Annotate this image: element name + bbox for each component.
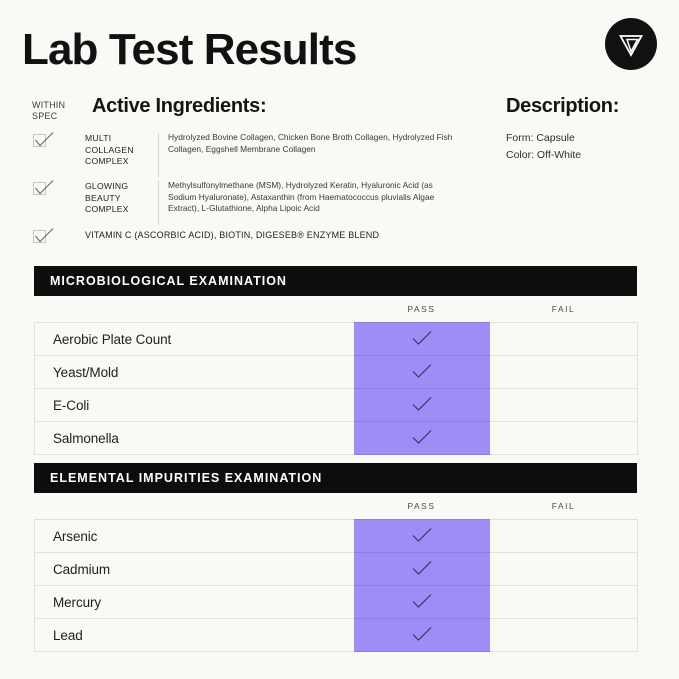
description-heading: Description: — [506, 95, 619, 118]
table-row: Aerobic Plate Count — [35, 323, 638, 356]
checkmark-icon — [33, 226, 55, 246]
examination-title: ELEMENTAL IMPURITIES EXAMINATION — [34, 463, 637, 493]
checkmark-icon — [33, 130, 55, 150]
column-header-name — [35, 296, 354, 323]
pass-cell[interactable] — [354, 586, 490, 619]
ingredient-description: Hydrolyzed Bovine Collagen, Chicken Bone… — [168, 132, 458, 155]
ingredient-complex-name: VITAMIN C (ASCORBIC ACID), BIOTIN, DIGES… — [85, 229, 485, 241]
table-header-row: PASS FAIL — [35, 493, 638, 520]
ingredient-row: GLOWING BEAUTY COMPLEX Methylsulfonylmet… — [0, 182, 679, 230]
ingredient-description: Methylsulfonylmethane (MSM), Hydrolyzed … — [168, 180, 458, 215]
test-name: Salmonella — [35, 422, 354, 455]
pass-checkmark-icon — [411, 363, 433, 379]
fail-cell[interactable] — [490, 520, 638, 553]
table-row: Salmonella — [35, 422, 638, 455]
pass-cell[interactable] — [354, 520, 490, 553]
column-header-pass: PASS — [354, 493, 490, 520]
pass-checkmark-icon — [411, 626, 433, 642]
examination-table: PASS FAIL Arsenic — [34, 493, 638, 652]
within-spec-line-2: SPEC — [32, 111, 76, 122]
page-title: Lab Test Results — [22, 27, 356, 73]
pass-cell[interactable] — [354, 619, 490, 652]
fail-cell[interactable] — [490, 323, 638, 356]
test-name: Cadmium — [35, 553, 354, 586]
ingredient-divider — [158, 133, 159, 177]
pass-checkmark-icon — [411, 560, 433, 576]
ingredient-divider — [158, 181, 159, 225]
document-header: Lab Test Results — [0, 0, 679, 92]
fail-cell[interactable] — [490, 389, 638, 422]
table-row: Lead — [35, 619, 638, 652]
examination-block-microbiological: MICROBIOLOGICAL EXAMINATION PASS FAIL Ae… — [34, 266, 637, 455]
fail-cell[interactable] — [490, 356, 638, 389]
pass-cell[interactable] — [354, 553, 490, 586]
column-header-name — [35, 493, 354, 520]
ingredients-description-band: WITHIN SPEC Active Ingredients: Descript… — [0, 92, 679, 257]
fail-cell[interactable] — [490, 619, 638, 652]
column-header-fail: FAIL — [490, 296, 638, 323]
pass-checkmark-icon — [411, 429, 433, 445]
test-name: Lead — [35, 619, 354, 652]
within-spec-checkbox[interactable] — [33, 182, 48, 197]
ingredient-complex-name: GLOWING BEAUTY COMPLEX — [85, 181, 151, 216]
ingredient-complex-name: MULTI COLLAGEN COMPLEX — [85, 133, 151, 168]
pass-checkmark-icon — [411, 593, 433, 609]
test-name: Aerobic Plate Count — [35, 323, 354, 356]
examination-table: PASS FAIL Aerobic Plate Count — [34, 296, 638, 455]
lab-test-results-page: Lab Test Results WITHIN SPEC Active Ingr… — [0, 0, 679, 679]
ingredient-row: MULTI COLLAGEN COMPLEX Hydrolyzed Bovine… — [0, 134, 679, 182]
pass-cell[interactable] — [354, 323, 490, 356]
pass-cell[interactable] — [354, 356, 490, 389]
pass-cell[interactable] — [354, 422, 490, 455]
brand-logo — [605, 18, 657, 70]
column-header-pass: PASS — [354, 296, 490, 323]
test-name: Arsenic — [35, 520, 354, 553]
test-name: E-Coli — [35, 389, 354, 422]
fail-cell[interactable] — [490, 553, 638, 586]
within-spec-line-1: WITHIN — [32, 100, 76, 111]
table-row: Cadmium — [35, 553, 638, 586]
table-row: Mercury — [35, 586, 638, 619]
table-row: E-Coli — [35, 389, 638, 422]
checkmark-icon — [33, 178, 55, 198]
triangle-logo-icon — [616, 29, 646, 59]
table-row: Arsenic — [35, 520, 638, 553]
table-header-row: PASS FAIL — [35, 296, 638, 323]
pass-cell[interactable] — [354, 389, 490, 422]
within-spec-checkbox[interactable] — [33, 134, 48, 149]
pass-checkmark-icon — [411, 527, 433, 543]
active-ingredients-heading: Active Ingredients: — [92, 95, 266, 118]
examination-results: MICROBIOLOGICAL EXAMINATION PASS FAIL Ae… — [34, 266, 637, 652]
within-spec-label: WITHIN SPEC — [32, 100, 76, 122]
examination-title: MICROBIOLOGICAL EXAMINATION — [34, 266, 637, 296]
active-ingredients-list: MULTI COLLAGEN COMPLEX Hydrolyzed Bovine… — [0, 134, 679, 254]
examination-block-elemental-impurities: ELEMENTAL IMPURITIES EXAMINATION PASS FA… — [34, 463, 637, 652]
fail-cell[interactable] — [490, 422, 638, 455]
fail-cell[interactable] — [490, 586, 638, 619]
within-spec-checkbox[interactable] — [33, 230, 48, 245]
ingredient-row: VITAMIN C (ASCORBIC ACID), BIOTIN, DIGES… — [0, 230, 679, 254]
pass-checkmark-icon — [411, 396, 433, 412]
pass-checkmark-icon — [411, 330, 433, 346]
test-name: Mercury — [35, 586, 354, 619]
column-header-fail: FAIL — [490, 493, 638, 520]
table-row: Yeast/Mold — [35, 356, 638, 389]
test-name: Yeast/Mold — [35, 356, 354, 389]
